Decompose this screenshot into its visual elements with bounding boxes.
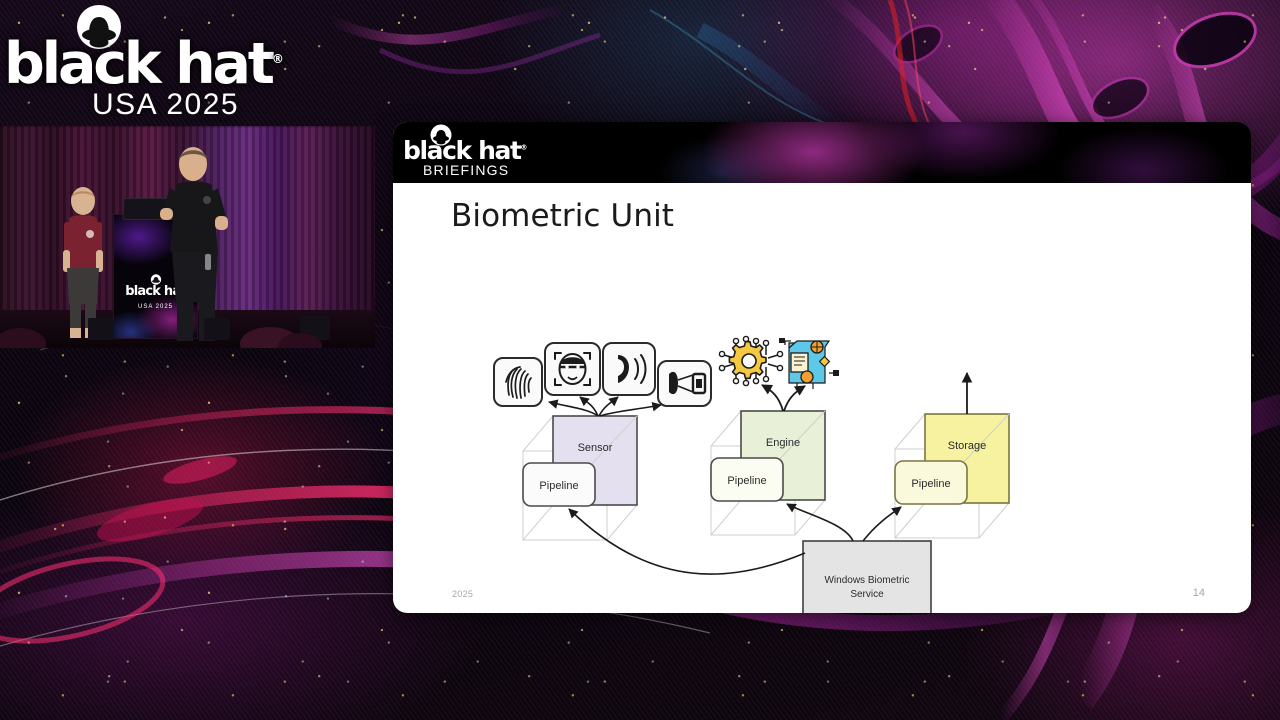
engine-pipeline-label: Pipeline [727,475,766,487]
sensor-label: Sensor [578,442,613,454]
slide-brand-subtitle: BRIEFINGS [423,163,509,177]
engine-label: Engine [766,437,800,449]
storage-label: Storage [948,440,987,452]
face-recognition-icon [545,343,600,395]
registered-mark: ® [272,52,284,66]
data-processing-icon [779,338,839,389]
event-logo-edition: USA 2025 [92,90,239,120]
speaker-video-feed[interactable]: black hat USA 2025 [0,126,375,348]
service-label-line2: Service [850,589,884,600]
slide-page-number: 14 [1193,587,1205,599]
slide-header-bar: black hat® BRIEFINGS [393,122,1251,183]
iris-scan-icon [658,361,711,406]
slide-content: Sensor Pipeline [393,183,1251,613]
slide-footer-year: 2025 [452,589,473,599]
event-logo: black hat® USA 2025 [0,0,300,126]
presentation-slide[interactable]: black hat® BRIEFINGS Biometric Unit [393,122,1251,613]
sensor-pipeline-label: Pipeline [539,480,578,492]
voice-recognition-icon [603,343,655,395]
event-logo-wordmark: black hat® [4,36,284,93]
fingerprint-icon [494,358,542,406]
stage-foreground [0,288,375,348]
slide-header-artwork [543,122,1251,183]
storage-pipeline-label: Pipeline [911,478,950,490]
slide-brand-wordmark: black hat® [403,138,528,163]
slide-brand-text: black hat [403,136,521,165]
screen-capture: black hat® USA 2025 [0,0,1280,720]
service-label-line1: Windows Biometric [824,575,909,586]
biometric-unit-diagram: Sensor Pipeline [393,183,1251,613]
slide-registered-mark: ® [521,144,528,152]
gear-circuit-icon [719,336,782,385]
